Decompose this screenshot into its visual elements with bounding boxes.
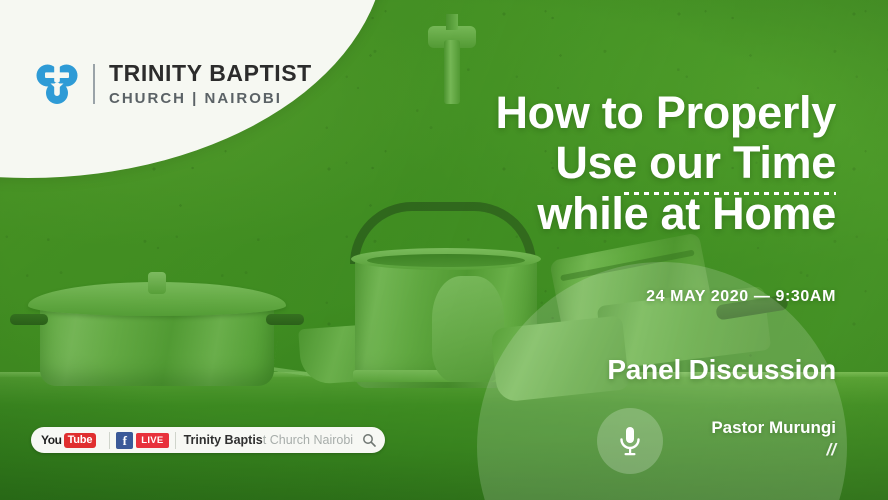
live-label: LIVE	[136, 433, 168, 448]
title-line-3: while at Home	[316, 189, 836, 239]
panel-discussion-heading: Panel Discussion	[607, 354, 836, 386]
panelist-list: Pastor Murungi // Pastor Abwao //// Past…	[683, 394, 836, 500]
search-input[interactable]: Trinity Baptis t Church Nairobi	[182, 433, 354, 447]
search-typed-text: Trinity Baptis	[184, 433, 263, 447]
bar-divider-1	[109, 432, 110, 449]
brand-text: TRINITY BAPTIST CHURCH | NAIROBI	[109, 62, 312, 106]
facebook-f-icon: f	[116, 432, 133, 449]
panelist-name: Pastor Murungi	[711, 418, 836, 437]
title-line-1: How to Properly	[316, 88, 836, 138]
page-title: How to Properly Use our Time while at Ho…	[316, 88, 836, 239]
panelist-slashes: //	[827, 439, 836, 462]
title-line-2: Use our Time	[555, 137, 836, 188]
search-icon[interactable]	[362, 433, 376, 447]
list-item: Pastor Murungi //	[683, 394, 836, 484]
title-line-2-wrap: Use our Time	[316, 138, 836, 188]
brand-divider	[93, 64, 95, 104]
live-stream-search-bar[interactable]: You Tube f LIVE Trinity Baptis t Church …	[31, 427, 385, 453]
brand-name-line1: TRINITY BAPTIST	[109, 62, 312, 85]
event-datetime: 24 MAY 2020 — 9:30AM	[646, 288, 836, 306]
search-suggestion-text: t Church Nairobi	[263, 433, 353, 447]
facebook-live-badge[interactable]: f LIVE	[116, 432, 168, 449]
youtube-word-you: You	[41, 433, 62, 447]
brand-name-line2: CHURCH | NAIROBI	[109, 91, 312, 106]
brand-lockup: TRINITY BAPTIST CHURCH | NAIROBI	[35, 62, 312, 106]
title-dashed-underline	[624, 192, 836, 195]
list-item: Pastor Abwao ////	[683, 484, 836, 500]
youtube-logo-icon[interactable]: You Tube	[38, 433, 103, 448]
youtube-word-tube: Tube	[64, 433, 97, 448]
flyer-canvas: TRINITY BAPTIST CHURCH | NAIROBI How to …	[0, 0, 888, 500]
microphone-icon	[617, 425, 643, 457]
bar-divider-2	[175, 432, 176, 449]
microphone-badge	[597, 408, 663, 474]
trinity-three-circles-cross-icon	[35, 62, 79, 106]
